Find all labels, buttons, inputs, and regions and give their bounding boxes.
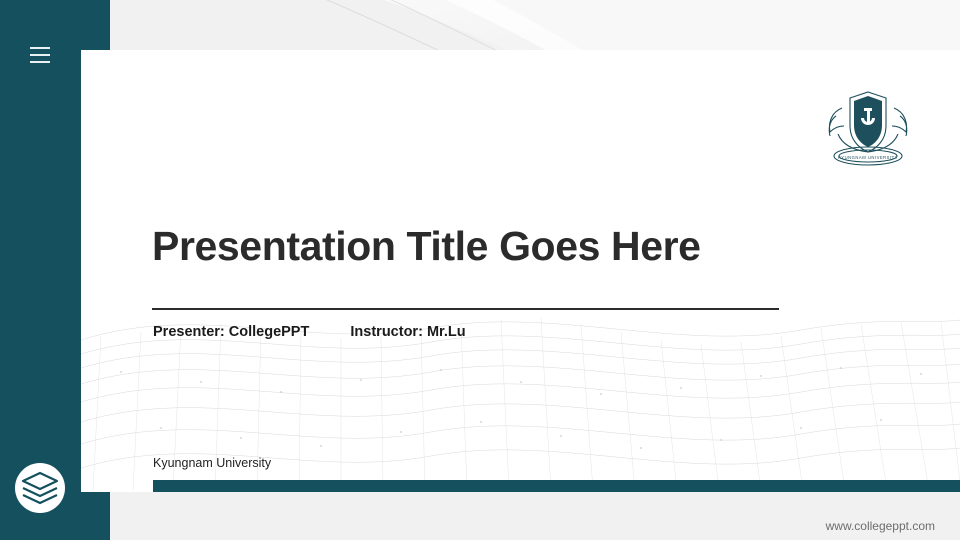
presenter-value: CollegePPT (229, 324, 310, 340)
footer-accent-bar (153, 480, 960, 492)
presenter-label: Presenter: (153, 324, 225, 340)
wireframe-mesh-decoration (81, 232, 960, 492)
page-title: Presentation Title Goes Here (152, 223, 701, 270)
slide-canvas: KYUNGNAM UNIVERSITY Presentation Title G… (81, 50, 960, 492)
university-crest-icon: KYUNGNAM UNIVERSITY (820, 86, 916, 168)
title-divider (152, 308, 779, 310)
hamburger-menu-icon[interactable] (30, 47, 50, 63)
crest-text: KYUNGNAM UNIVERSITY (838, 155, 898, 160)
layers-stack-glyph (21, 471, 59, 505)
instructor-label: Instructor: (350, 324, 423, 340)
university-name: Kyungnam University (153, 456, 271, 470)
instructor-value: Mr.Lu (427, 324, 466, 340)
layers-stack-icon[interactable] (15, 463, 65, 513)
presentation-meta: Presenter: CollegePPT Instructor: Mr.Lu (153, 324, 466, 340)
slide-viewer: KYUNGNAM UNIVERSITY Presentation Title G… (0, 0, 960, 540)
website-url: www.collegeppt.com (826, 519, 935, 533)
